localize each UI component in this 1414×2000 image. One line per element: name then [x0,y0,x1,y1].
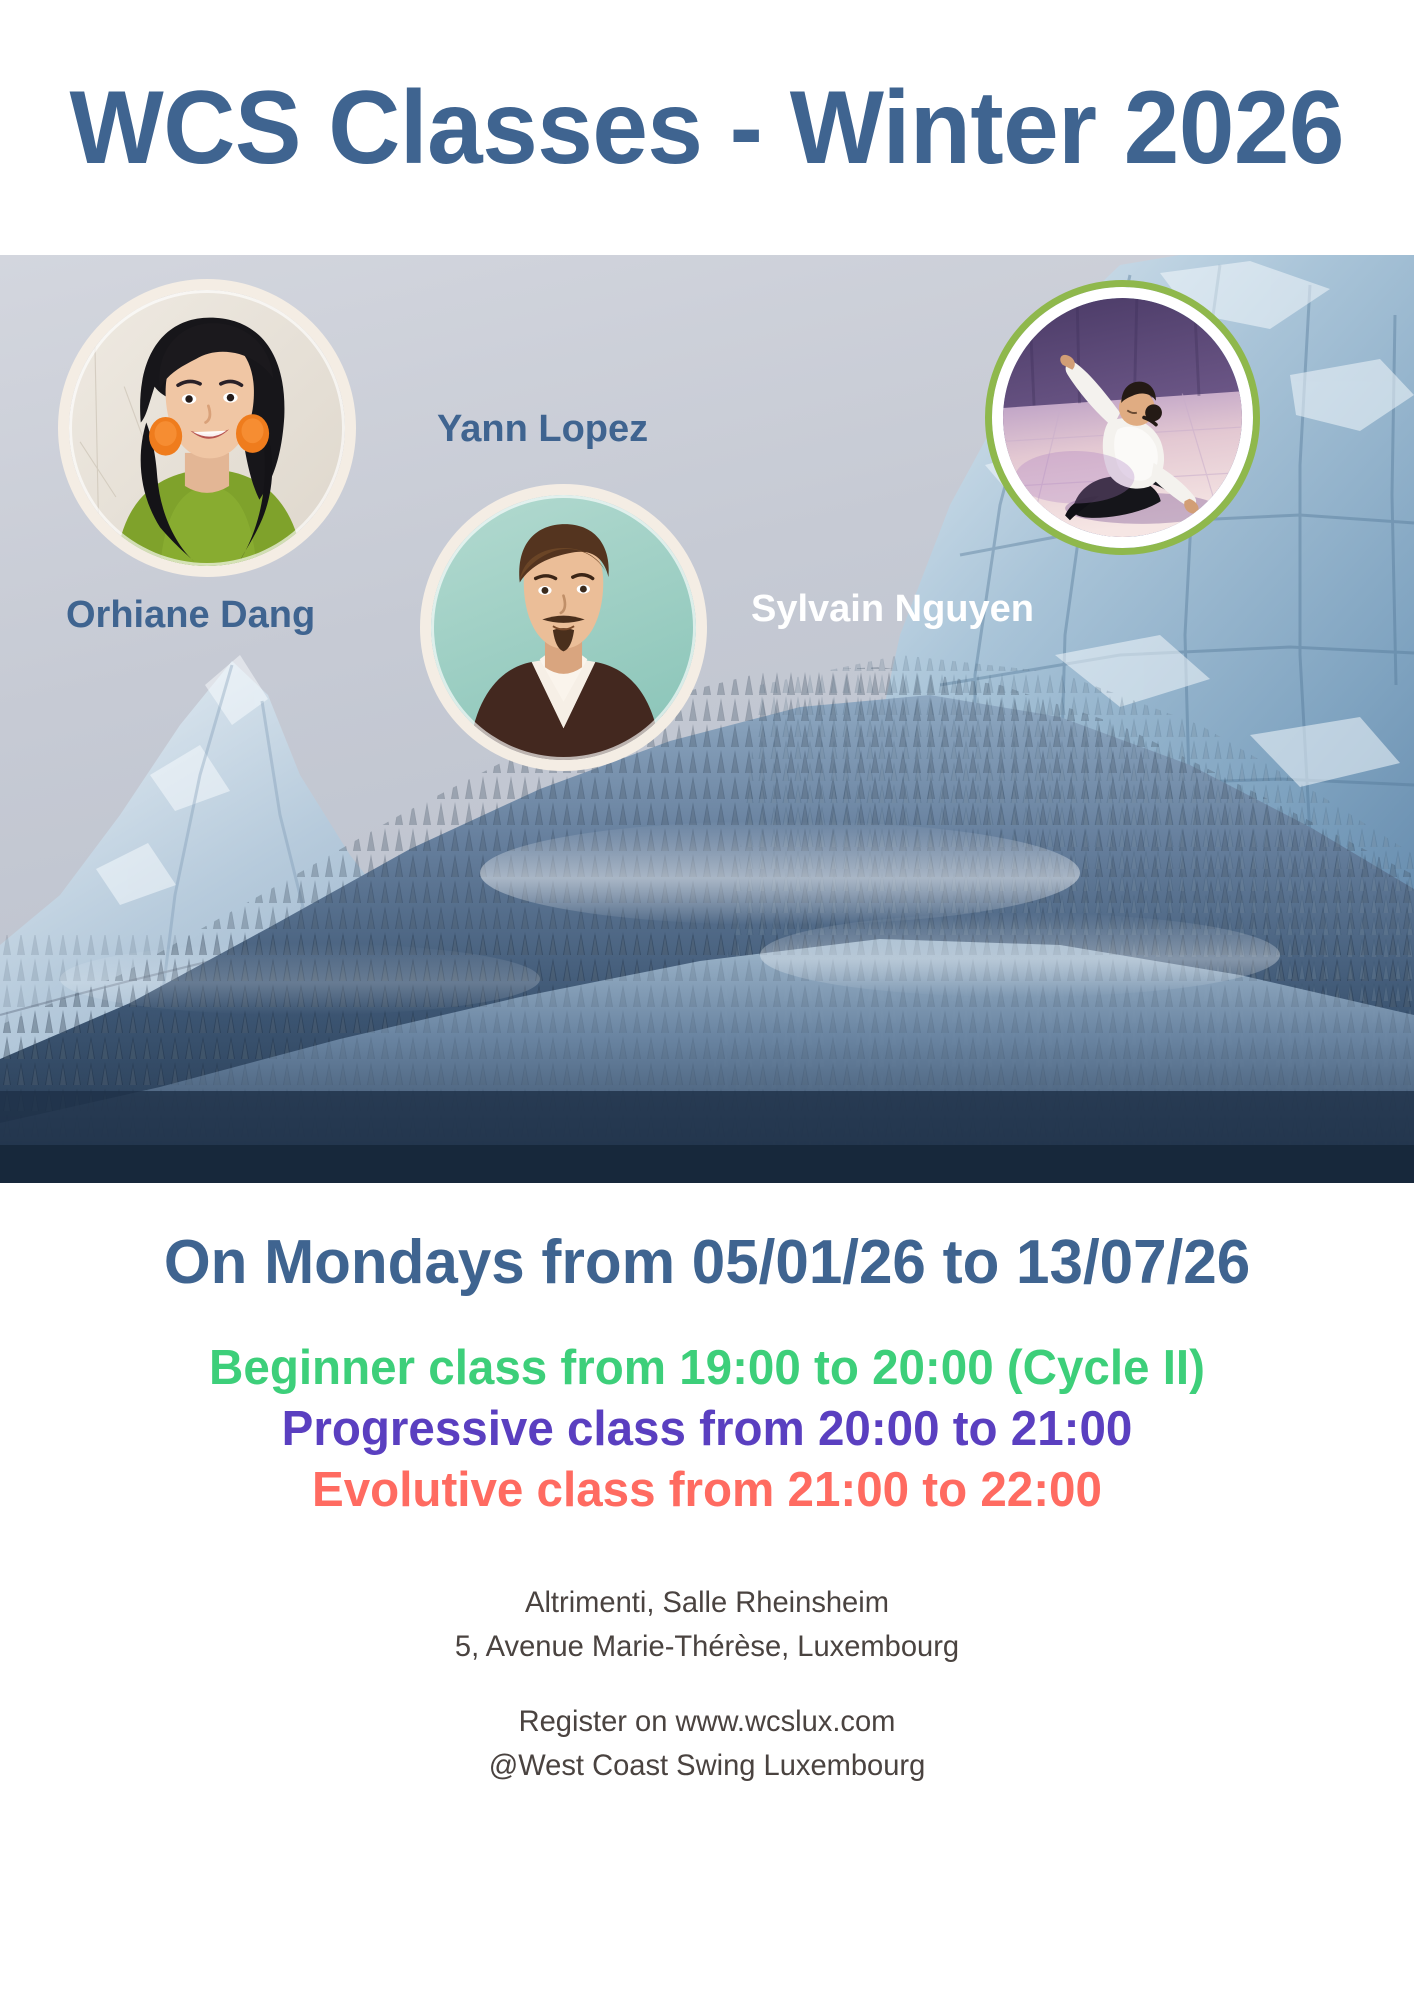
portrait-sylvain-nguyen-image [1003,298,1242,537]
social-handle[interactable]: @West Coast Swing Luxembourg [21,1744,1393,1788]
schedule-heading: On Mondays from 05/01/26 to 13/07/26 [21,1230,1393,1296]
schedule-section: On Mondays from 05/01/26 to 13/07/26 Beg… [0,1183,1414,1787]
portrait-yann-lopez-image [431,495,696,760]
class-line-progressive: Progressive class from 20:00 to 21:00 [21,1399,1393,1460]
class-line-evolutive: Evolutive class from 21:00 to 22:00 [21,1460,1393,1521]
avatar-orhiane-dang [58,279,356,577]
instructor-name-sylvain-nguyen: Sylvain Nguyen [751,590,1034,628]
avatar-sylvain-nguyen [985,280,1260,555]
class-list: Beginner class from 19:00 to 20:00 (Cycl… [0,1338,1414,1522]
portrait-orhiane-dang-image [69,290,345,566]
hero-photo-band: Orhiane Dang Yann Lopez Sylvain Nguyen [0,255,1414,1183]
instructor-name-yann-lopez: Yann Lopez [437,410,648,448]
venue-block: Altrimenti, Salle Rheinsheim 5, Avenue M… [21,1581,1393,1668]
class-line-beginner: Beginner class from 19:00 to 20:00 (Cycl… [21,1338,1393,1399]
venue-name: Altrimenti, Salle Rheinsheim [21,1581,1393,1625]
poster-header: WCS Classes - Winter 2026 [0,0,1414,255]
instructor-name-orhiane-dang: Orhiane Dang [66,596,315,634]
registration-url[interactable]: Register on www.wcslux.com [21,1700,1393,1744]
contact-block: Register on www.wcslux.com @West Coast S… [21,1700,1393,1787]
avatar-inner-ring [992,287,1253,548]
venue-address: 5, Avenue Marie-Thérèse, Luxembourg [21,1625,1393,1669]
avatar-yann-lopez [420,484,707,771]
page-title: WCS Classes - Winter 2026 [70,76,1344,180]
